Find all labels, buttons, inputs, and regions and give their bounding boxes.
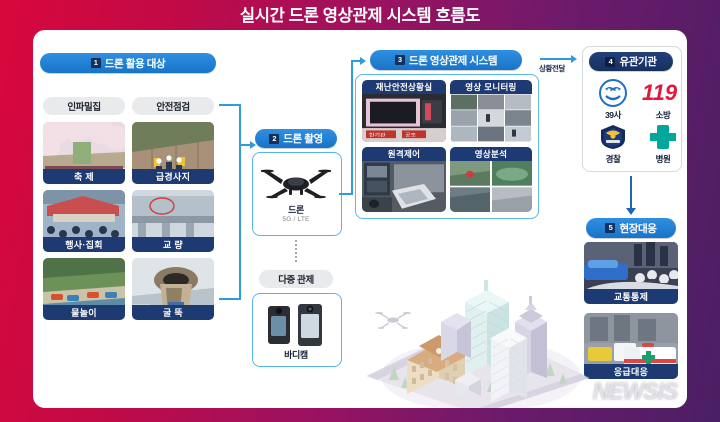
section-1-title: 드론 활용 대상 bbox=[105, 56, 166, 71]
agency-name-police: 경찰 bbox=[589, 153, 637, 165]
section-1-number: 1 bbox=[91, 58, 101, 68]
caption-event-rally: 행사·집회 bbox=[43, 237, 125, 252]
caption-traffic-control: 교통통제 bbox=[584, 289, 678, 304]
group-label-crowd: 인파밀집 bbox=[43, 97, 125, 115]
svg-text:공조: 공조 bbox=[405, 132, 416, 138]
multi-control-label: 다중 관제 bbox=[259, 270, 333, 288]
connector-s4-to-s5 bbox=[630, 176, 632, 210]
section-2-header: 2 드론 촬영 bbox=[255, 129, 337, 148]
119-fire-icon: 119 bbox=[639, 78, 687, 108]
diagram-canvas: 1 드론 활용 대상 인파밀집 안전점검 축 제 bbox=[33, 30, 687, 408]
connector-s2-to-s3-v bbox=[351, 60, 353, 195]
svg-text:119: 119 bbox=[642, 81, 678, 105]
section-3-number: 3 bbox=[395, 55, 405, 65]
section-4-header: 4 유관기관 bbox=[589, 52, 673, 71]
section-5-header: 5 현장대응 bbox=[586, 218, 676, 238]
division-39-emblem-icon bbox=[589, 78, 637, 108]
caption-video-monitoring: 영상 모니터링 bbox=[450, 80, 532, 94]
photo-card-video-monitoring: 영상 모니터링 bbox=[450, 80, 532, 142]
caption-steep-slope: 급경사지 bbox=[132, 169, 214, 184]
photo-card-water-play: 물놀이 bbox=[43, 258, 125, 320]
connector-s1-vert-long bbox=[239, 144, 241, 300]
agency-name-fire: 소방 bbox=[639, 109, 687, 121]
connector-s1-top bbox=[219, 104, 241, 106]
agency-fire: 119 소방 bbox=[639, 78, 687, 121]
photo-card-traffic-control: 교통통제 bbox=[584, 242, 678, 304]
group-label-safety: 안전점검 bbox=[132, 97, 214, 115]
photo-disaster-control-room: 한기관공조 bbox=[362, 94, 446, 142]
drone-label: 드론 bbox=[252, 203, 340, 216]
caption-remote-control: 원격제어 bbox=[362, 147, 446, 161]
mini-drone-icon bbox=[375, 312, 411, 329]
connector-label-situation-relay: 상황전달 bbox=[539, 63, 565, 74]
drone-network-label: 5G / LTE bbox=[252, 216, 340, 223]
caption-festival: 축 제 bbox=[43, 169, 125, 184]
connector-s3-to-s4 bbox=[540, 58, 572, 60]
police-emblem-icon bbox=[589, 122, 637, 152]
photo-card-emergency-response: 응급대응 bbox=[584, 313, 678, 379]
connector-s1-vert bbox=[239, 104, 241, 146]
section-4-number: 4 bbox=[605, 57, 615, 67]
bodycam-label: 바디캠 bbox=[252, 348, 340, 361]
bodycam-icon bbox=[266, 302, 326, 348]
caption-water-play: 물놀이 bbox=[43, 305, 125, 320]
section-1-header: 1 드론 활용 대상 bbox=[40, 53, 216, 73]
caption-emergency-response: 응급대응 bbox=[584, 364, 678, 379]
photo-card-remote-control: 원격제어 bbox=[362, 147, 446, 212]
photo-card-bridge: 교 량 bbox=[132, 190, 214, 252]
section-2-number: 2 bbox=[269, 134, 279, 144]
photo-card-video-analysis: 영상분석 bbox=[450, 147, 532, 212]
section-3-title: 드론 영상관제 시스템 bbox=[409, 53, 497, 68]
photo-video-analysis-grid bbox=[450, 161, 532, 212]
photo-card-disaster-room: 재난안전상황실 한기관공조 bbox=[362, 80, 446, 142]
agency-hospital: 병원 bbox=[639, 122, 687, 165]
caption-bridge: 교 량 bbox=[132, 237, 214, 252]
photo-card-event-rally: 행사·집회 bbox=[43, 190, 125, 252]
connector-s1-bottom bbox=[219, 298, 241, 300]
caption-disaster-room: 재난안전상황실 bbox=[362, 80, 446, 94]
section-5-title: 현장대응 bbox=[619, 221, 656, 236]
photo-card-chimney: 굴 뚝 bbox=[132, 258, 214, 320]
dotted-connector-drone-bodycam bbox=[295, 240, 297, 268]
agency-name-hospital: 병원 bbox=[639, 153, 687, 165]
agency-division39: 39사 bbox=[589, 78, 637, 121]
photo-video-monitoring-grid bbox=[450, 94, 532, 142]
arrow-s2-to-s3-icon bbox=[360, 57, 366, 65]
poster-root: 실시간 드론 영상관제 시스템 흐름도 1 드론 활용 대상 인파밀집 안전점검… bbox=[0, 0, 720, 422]
photo-remote-control-console bbox=[362, 161, 446, 212]
agency-name-division39: 39사 bbox=[589, 109, 637, 121]
isometric-city-illustration bbox=[363, 268, 593, 408]
section-3-header: 3 드론 영상관제 시스템 bbox=[370, 50, 522, 70]
photo-card-steep-slope: 급경사지 bbox=[132, 122, 214, 184]
section-5-number: 5 bbox=[605, 223, 615, 233]
caption-chimney: 굴 뚝 bbox=[132, 305, 214, 320]
caption-video-analysis: 영상분석 bbox=[450, 147, 532, 161]
hospital-cross-icon bbox=[639, 122, 687, 152]
section-4-title: 유관기관 bbox=[619, 54, 656, 69]
page-title: 실시간 드론 영상관제 시스템 흐름도 bbox=[0, 3, 720, 29]
agency-police: 경찰 bbox=[589, 122, 637, 165]
arrow-s4-to-s5-icon bbox=[626, 208, 636, 215]
drone-icon bbox=[261, 162, 331, 200]
arrow-s3-to-s4-icon bbox=[571, 55, 577, 63]
svg-text:한기관: 한기관 bbox=[369, 131, 386, 138]
photo-card-festival: 축 제 bbox=[43, 122, 125, 184]
section-2-title: 드론 촬영 bbox=[283, 131, 323, 146]
